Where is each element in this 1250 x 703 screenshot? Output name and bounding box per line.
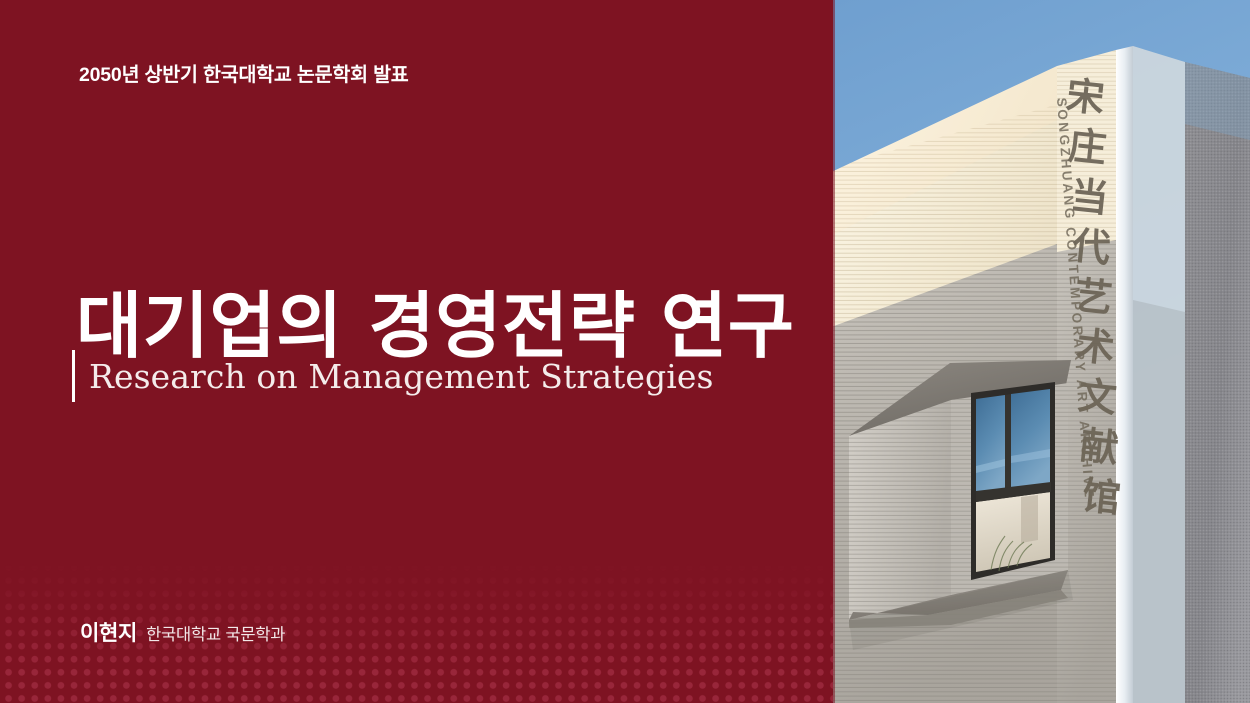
- sunlit-corner-edge: [1116, 46, 1133, 703]
- building-photo-illustration: 宋 庄 当 代 艺 术 文 献 馆 SONGZHUANG CONTEMPORAR…: [833, 0, 1250, 703]
- presenter-footer: 이현지 한국대학교 국문학과: [80, 617, 285, 647]
- window-pane-upper-left: [976, 395, 1005, 497]
- building-photograph: 宋 庄 当 代 艺 术 文 献 馆 SONGZHUANG CONTEMPORAR…: [833, 0, 1250, 703]
- presentation-slide: 2050년 상반기 한국대학교 논문학회 발표 대기업의 경영전략 연구 Res…: [0, 0, 1250, 703]
- window-pane-upper-right: [1011, 389, 1050, 490]
- window: [971, 382, 1055, 580]
- vertical-rule-decoration: [72, 350, 75, 402]
- subtitle-text: Research on Management Strategies: [89, 360, 714, 393]
- event-eyebrow-text: 2050년 상반기 한국대학교 논문학회 발표: [79, 58, 409, 87]
- presenter-name: 이현지: [80, 617, 137, 647]
- subtitle-group: Research on Management Strategies: [72, 350, 714, 402]
- window-pane-lower: [976, 492, 1050, 572]
- presenter-affiliation: 한국대학교 국문학과: [146, 621, 285, 645]
